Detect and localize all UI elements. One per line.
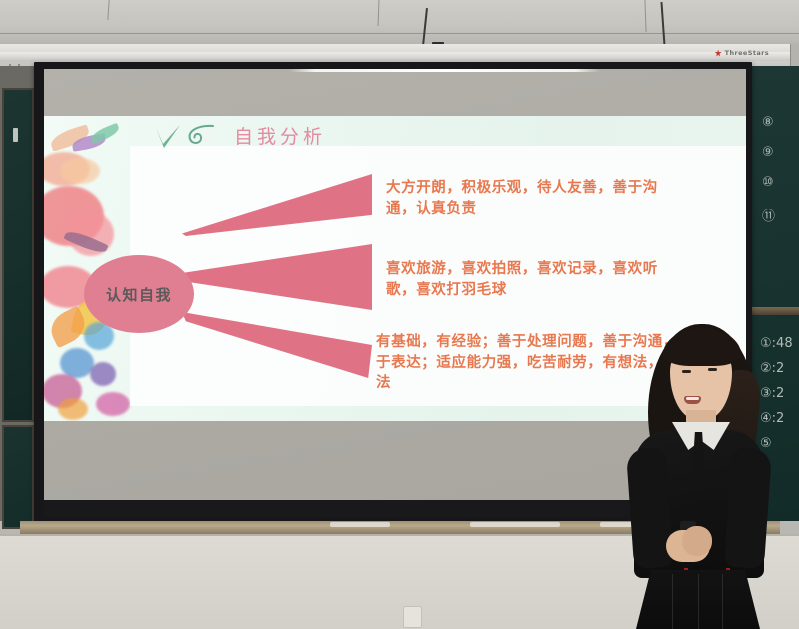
- casing-highlight: [0, 52, 799, 61]
- skirt-pleat: [672, 574, 673, 629]
- chalk-dust: [330, 522, 390, 527]
- ceiling-panel-seam: [644, 0, 646, 32]
- light-reflection: [290, 69, 600, 72]
- chalk-number: ⑪: [762, 205, 775, 224]
- ceiling-panel-seam: [378, 0, 380, 26]
- ceiling-seam-line: [0, 33, 799, 34]
- blackboard-left-lower: [2, 425, 34, 529]
- eye-right: [708, 368, 717, 371]
- hand-right: [682, 526, 712, 556]
- skirt-pleat: [698, 574, 699, 629]
- chalk-dust: [470, 522, 560, 527]
- arm-right: [724, 447, 772, 569]
- hanging-wire: [422, 8, 428, 46]
- chalk-mark: [13, 128, 18, 142]
- blackboard-chalk-rail: [752, 307, 799, 315]
- teeth: [686, 397, 699, 400]
- chalk-number: ⑨: [762, 145, 774, 160]
- wall-outlet: [403, 606, 422, 628]
- ceiling-panel-seam: [107, 0, 109, 20]
- skirt-pleat: [722, 574, 723, 629]
- hanging-wire: [660, 2, 665, 46]
- projector-brand: ThreeStars: [715, 49, 769, 57]
- classroom-photo: ThreeStars ⑧ ⑨ ⑩ ⑪ ①:48 ②:2 ③:2 ④:2 ⑤ ⑥: [0, 0, 799, 629]
- eye-left: [682, 370, 691, 373]
- green-check-icon: [154, 124, 182, 150]
- chalk-number: ⑧: [762, 115, 774, 130]
- chalk-number: ⑩: [762, 175, 774, 190]
- slide-text-block-personality: 大方开朗，积极乐观，待人友善，善于沟通，认真负责: [386, 178, 686, 219]
- presenter: [612, 318, 784, 629]
- slide-text-block-hobbies: 喜欢旅游，喜欢拍照，喜欢记录，喜欢听歌，喜欢打羽毛球: [386, 259, 686, 300]
- center-node-ellipse: 认知自我: [84, 255, 194, 333]
- green-swirl-icon: [186, 124, 214, 148]
- blackboard-left-upper: [2, 88, 34, 422]
- brand-label: ThreeStars: [725, 49, 769, 57]
- slide-title: 自我分析: [234, 122, 326, 149]
- star-icon: [715, 50, 722, 57]
- center-node-label: 认知自我: [106, 284, 172, 305]
- ceiling: [0, 0, 799, 48]
